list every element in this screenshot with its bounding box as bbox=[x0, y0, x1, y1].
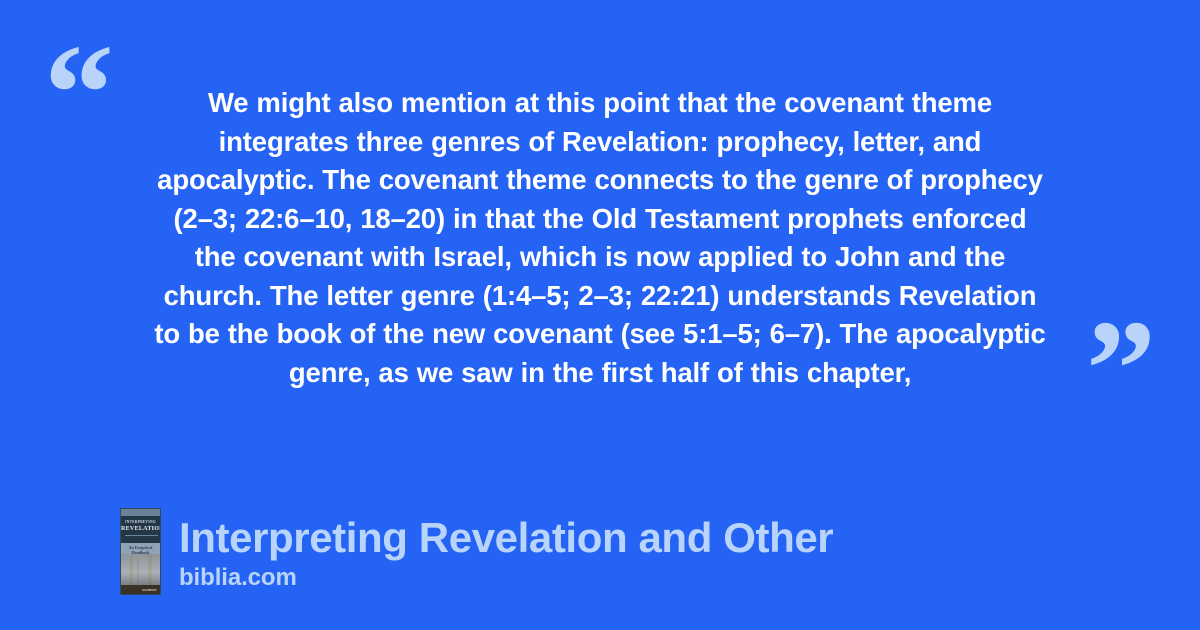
quote-line: church. The letter genre (1:4–5; 2–3; 22… bbox=[164, 280, 1037, 311]
cover-title-line-2: REVELATION bbox=[121, 526, 160, 532]
quote-line: to be the book of the new covenant (see … bbox=[154, 318, 1045, 349]
cover-author: ROBERT bbox=[142, 588, 157, 592]
quote-line: integrates three genres of Revelation: p… bbox=[219, 126, 982, 157]
cover-title-line-1: INTERPRETING bbox=[121, 520, 160, 524]
quote-line: apocalyptic. The covenant theme connects… bbox=[157, 164, 1043, 195]
site-name: biblia.com bbox=[179, 563, 833, 593]
quote-line: the covenant with Israel, which is now a… bbox=[195, 241, 1006, 272]
attribution-text: Interpreting Revelation and Other biblia… bbox=[179, 514, 833, 595]
quote-line: (2–3; 22:6–10, 18–20) in that the Old Te… bbox=[173, 203, 1026, 234]
cover-photo-shading bbox=[121, 554, 160, 588]
book-cover-thumbnail: INTERPRETING REVELATION An Exegetical Ha… bbox=[120, 508, 161, 595]
cover-rule bbox=[125, 535, 158, 536]
quote-line: genre, as we saw in the first half of th… bbox=[289, 357, 911, 388]
quote-text: We might also mention at this point that… bbox=[100, 84, 1100, 392]
book-title: Interpreting Revelation and Other bbox=[179, 514, 833, 562]
quote-line: We might also mention at this point that… bbox=[208, 87, 992, 118]
source-attribution: INTERPRETING REVELATION An Exegetical Ha… bbox=[120, 508, 833, 595]
cover-top-band bbox=[121, 509, 160, 516]
quote-card: “ ” We might also mention at this point … bbox=[0, 0, 1200, 630]
